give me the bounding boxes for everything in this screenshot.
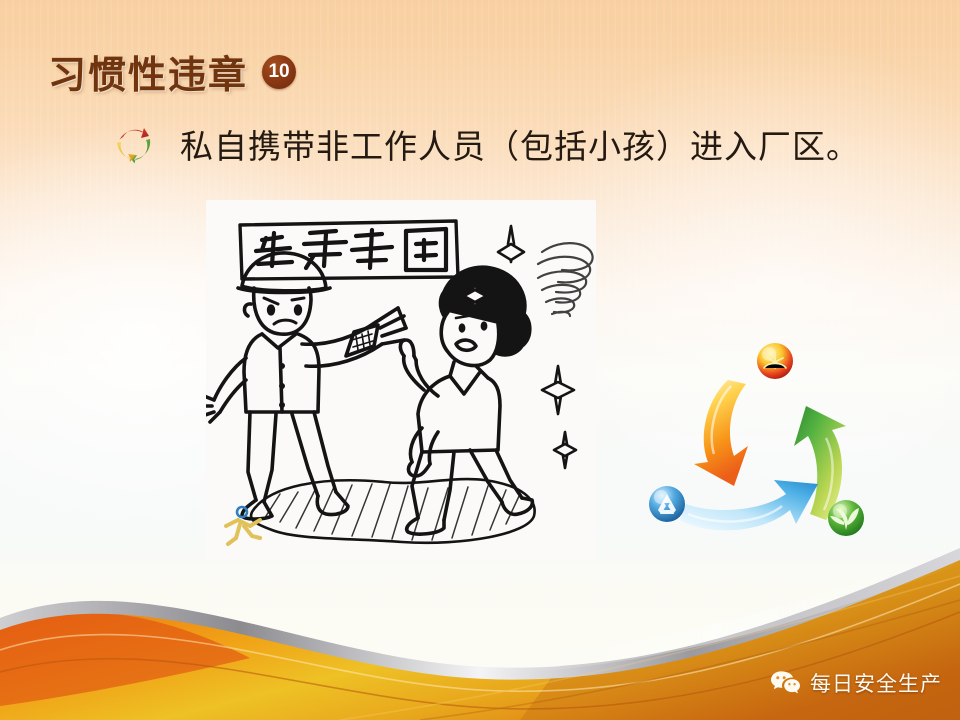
orange-arrow-down: [694, 380, 748, 486]
safety-cartoon-illustration: [206, 200, 596, 560]
blue-arrow-right: [680, 480, 818, 530]
globe-recycle-badge: [649, 486, 685, 522]
wechat-icon: [770, 670, 801, 696]
recycle-arrows-icon: [110, 120, 158, 168]
cartoon-drawing: [206, 200, 596, 560]
eco-cycle-graphic: [636, 334, 884, 562]
watermark-text: 每日安全生产: [810, 668, 942, 698]
wechat-watermark: 每日安全生产: [770, 668, 942, 698]
green-leaf-badge: [828, 500, 864, 536]
bullet-item: 私自携带非工作人员（包括小孩）进入厂区。: [110, 120, 860, 168]
sun-badge: [757, 343, 793, 379]
bullet-text: 私自携带非工作人员（包括小孩）进入厂区。: [180, 120, 860, 168]
title-number-badge: 10: [262, 55, 296, 89]
eco-cycle-drawing: [636, 334, 884, 562]
title-text: 习惯性违章: [48, 44, 248, 99]
page-title: 习惯性违章 10: [48, 44, 296, 99]
slide-root: 习惯性违章 10: [0, 0, 960, 720]
